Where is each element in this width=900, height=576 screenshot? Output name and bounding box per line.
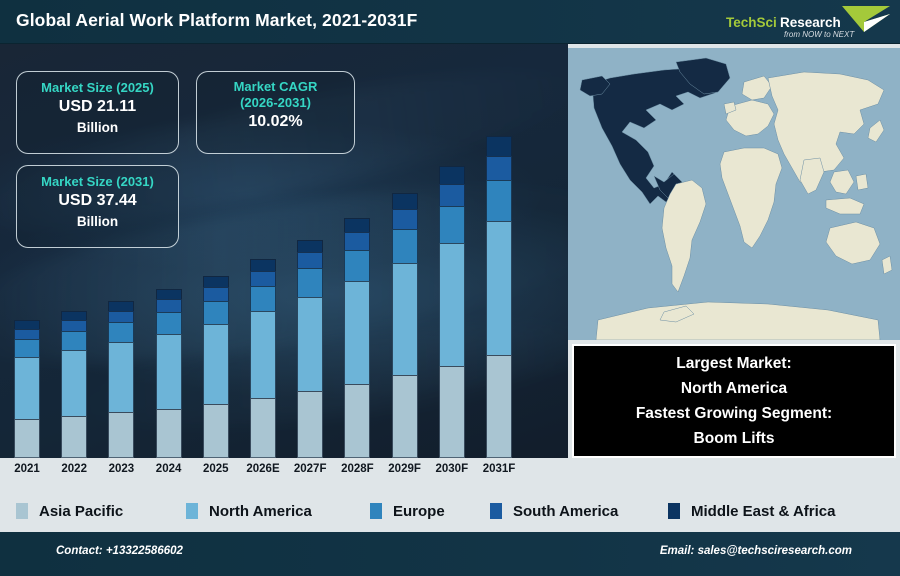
bar-segment-north-america[interactable] bbox=[108, 342, 134, 412]
axis-label-2029F: 2029F bbox=[379, 463, 431, 475]
bar-segment-asia-pacific[interactable] bbox=[203, 404, 229, 458]
bar-2022[interactable] bbox=[61, 311, 87, 458]
x-axis: 202120222023202420252026E2027F2028F2029F… bbox=[0, 458, 568, 490]
bar-2031F[interactable] bbox=[486, 136, 512, 458]
bar-segment-europe[interactable] bbox=[108, 322, 134, 342]
legend-label: Asia Pacific bbox=[39, 503, 123, 520]
legend-swatch-icon bbox=[370, 503, 382, 519]
bar-segment-north-america[interactable] bbox=[297, 297, 323, 392]
bar-segment-asia-pacific[interactable] bbox=[61, 416, 87, 458]
largest-market-value: North America bbox=[681, 376, 787, 401]
stat-title: Market Size (2025) bbox=[17, 79, 178, 96]
largest-market-label: Largest Market: bbox=[676, 351, 791, 376]
axis-label-2031F: 2031F bbox=[473, 463, 525, 475]
bar-segment-north-america[interactable] bbox=[250, 311, 276, 398]
fastest-segment-label: Fastest Growing Segment: bbox=[636, 401, 832, 426]
bar-segment-middle-east-africa[interactable] bbox=[14, 320, 40, 329]
legend-label: South America bbox=[513, 503, 618, 520]
legend-item-north-america[interactable]: North America bbox=[186, 503, 312, 520]
svg-text:from NOW to NEXT: from NOW to NEXT bbox=[784, 30, 855, 39]
bar-2026E[interactable] bbox=[250, 259, 276, 458]
world-map-svg bbox=[568, 48, 900, 340]
bar-2023[interactable] bbox=[108, 301, 134, 458]
bar-segment-middle-east-africa[interactable] bbox=[344, 218, 370, 232]
bar-segment-europe[interactable] bbox=[156, 312, 182, 334]
bar-segment-asia-pacific[interactable] bbox=[392, 375, 418, 458]
bar-segment-asia-pacific[interactable] bbox=[439, 366, 465, 458]
bar-segment-middle-east-africa[interactable] bbox=[392, 193, 418, 209]
bar-segment-south-america[interactable] bbox=[486, 156, 512, 180]
legend-item-asia-pacific[interactable]: Asia Pacific bbox=[16, 503, 123, 520]
bar-segment-south-america[interactable] bbox=[14, 329, 40, 339]
bar-segment-europe[interactable] bbox=[61, 331, 87, 350]
legend-swatch-icon bbox=[186, 503, 198, 519]
stat-unit: Billion bbox=[17, 118, 178, 138]
fastest-segment-value: Boom Lifts bbox=[694, 426, 775, 451]
techsci-research-logo: TechSci Research from NOW to NEXT bbox=[714, 2, 894, 42]
contact-phone: Contact: +13322586602 bbox=[56, 545, 183, 557]
legend-label: Middle East & Africa bbox=[691, 503, 835, 520]
bar-segment-europe[interactable] bbox=[297, 268, 323, 296]
legend-swatch-icon bbox=[16, 503, 28, 519]
bar-segment-north-america[interactable] bbox=[156, 334, 182, 409]
bar-segment-asia-pacific[interactable] bbox=[156, 409, 182, 458]
bar-segment-asia-pacific[interactable] bbox=[297, 391, 323, 458]
page-footer: Contact: +13322586602 Email: sales@techs… bbox=[0, 532, 900, 576]
stat-title: Market Size (2031) bbox=[17, 173, 178, 190]
axis-label-2023: 2023 bbox=[95, 463, 147, 475]
axis-label-2030F: 2030F bbox=[426, 463, 478, 475]
axis-label-2025: 2025 bbox=[190, 463, 242, 475]
bar-segment-south-america[interactable] bbox=[108, 311, 134, 323]
bar-segment-middle-east-africa[interactable] bbox=[108, 301, 134, 310]
page-title: Global Aerial Work Platform Market, 2021… bbox=[16, 10, 417, 31]
bar-segment-north-america[interactable] bbox=[486, 221, 512, 355]
bar-segment-middle-east-africa[interactable] bbox=[439, 166, 465, 184]
bar-segment-asia-pacific[interactable] bbox=[108, 412, 134, 458]
bar-segment-middle-east-africa[interactable] bbox=[486, 136, 512, 156]
bar-2021[interactable] bbox=[14, 320, 40, 458]
bar-segment-south-america[interactable] bbox=[297, 252, 323, 268]
stat-card-market-cagr: Market CAGR (2026-2031) 10.02% bbox=[196, 71, 355, 154]
stat-card-market-size-2031: Market Size (2031) USD 37.44 Billion bbox=[16, 165, 179, 248]
bar-segment-north-america[interactable] bbox=[344, 281, 370, 384]
bar-segment-asia-pacific[interactable] bbox=[486, 355, 512, 458]
bar-segment-asia-pacific[interactable] bbox=[250, 398, 276, 458]
axis-label-2022: 2022 bbox=[48, 463, 100, 475]
bar-segment-europe[interactable] bbox=[486, 180, 512, 221]
legend-swatch-icon bbox=[490, 503, 502, 519]
bar-2029F[interactable] bbox=[392, 193, 418, 458]
legend-label: North America bbox=[209, 503, 312, 520]
chart-legend: Asia PacificNorth AmericaEuropeSouth Ame… bbox=[0, 490, 900, 532]
bar-segment-europe[interactable] bbox=[439, 206, 465, 243]
legend-item-south-america[interactable]: South America bbox=[490, 503, 618, 520]
bar-segment-asia-pacific[interactable] bbox=[344, 384, 370, 458]
stat-title-period: (2026-2031) bbox=[197, 95, 354, 111]
legend-swatch-icon bbox=[668, 503, 680, 519]
stat-value: 10.02% bbox=[197, 111, 354, 133]
bar-segment-south-america[interactable] bbox=[439, 184, 465, 206]
bar-segment-middle-east-africa[interactable] bbox=[156, 289, 182, 299]
bar-segment-europe[interactable] bbox=[14, 339, 40, 357]
bar-2027F[interactable] bbox=[297, 240, 323, 458]
bar-segment-north-america[interactable] bbox=[14, 357, 40, 419]
bar-segment-europe[interactable] bbox=[250, 286, 276, 312]
stat-value: USD 37.44 bbox=[17, 190, 178, 212]
stat-unit: Billion bbox=[17, 212, 178, 232]
world-map bbox=[568, 48, 900, 340]
bar-segment-south-america[interactable] bbox=[344, 232, 370, 250]
bar-segment-south-america[interactable] bbox=[250, 271, 276, 286]
bar-segment-north-america[interactable] bbox=[439, 243, 465, 366]
axis-label-2024: 2024 bbox=[143, 463, 195, 475]
bar-segment-south-america[interactable] bbox=[61, 320, 87, 331]
map-region-philippines bbox=[856, 174, 868, 190]
axis-label-2028F: 2028F bbox=[331, 463, 383, 475]
bar-segment-europe[interactable] bbox=[392, 229, 418, 263]
axis-label-2026E: 2026E bbox=[237, 463, 289, 475]
bar-segment-north-america[interactable] bbox=[392, 263, 418, 376]
bar-segment-asia-pacific[interactable] bbox=[14, 419, 40, 458]
logo-icon: TechSci Research from NOW to NEXT bbox=[714, 2, 894, 42]
bar-2028F[interactable] bbox=[344, 218, 370, 458]
bar-segment-north-america[interactable] bbox=[203, 324, 229, 404]
bar-segment-europe[interactable] bbox=[344, 250, 370, 281]
stat-value: USD 21.11 bbox=[17, 96, 178, 118]
bar-segment-middle-east-africa[interactable] bbox=[297, 240, 323, 252]
bar-segment-europe[interactable] bbox=[203, 301, 229, 325]
infographic-page: Global Aerial Work Platform Market, 2021… bbox=[0, 0, 900, 576]
bar-segment-south-america[interactable] bbox=[203, 287, 229, 301]
stat-title: Market CAGR bbox=[197, 79, 354, 95]
stat-card-market-size-2025: Market Size (2025) USD 21.11 Billion bbox=[16, 71, 179, 154]
bar-segment-south-america[interactable] bbox=[156, 299, 182, 311]
svg-text:Research: Research bbox=[780, 15, 841, 30]
axis-label-2021: 2021 bbox=[1, 463, 53, 475]
legend-item-middle-east-africa[interactable]: Middle East & Africa bbox=[668, 503, 835, 520]
contact-email: Email: sales@techsciresearch.com bbox=[660, 545, 852, 557]
bar-segment-middle-east-africa[interactable] bbox=[250, 259, 276, 270]
legend-item-europe[interactable]: Europe bbox=[370, 503, 445, 520]
bar-2030F[interactable] bbox=[439, 166, 465, 458]
axis-label-2027F: 2027F bbox=[284, 463, 336, 475]
page-header: Global Aerial Work Platform Market, 2021… bbox=[0, 0, 900, 44]
legend-label: Europe bbox=[393, 503, 445, 520]
bar-segment-north-america[interactable] bbox=[61, 350, 87, 416]
svg-text:TechSci: TechSci bbox=[726, 15, 777, 30]
bar-2024[interactable] bbox=[156, 289, 182, 458]
key-insights-box: Largest Market: North America Fastest Gr… bbox=[572, 344, 896, 458]
bar-segment-south-america[interactable] bbox=[392, 209, 418, 229]
bar-segment-middle-east-africa[interactable] bbox=[61, 311, 87, 320]
bar-2025[interactable] bbox=[203, 276, 229, 458]
bar-segment-middle-east-africa[interactable] bbox=[203, 276, 229, 286]
